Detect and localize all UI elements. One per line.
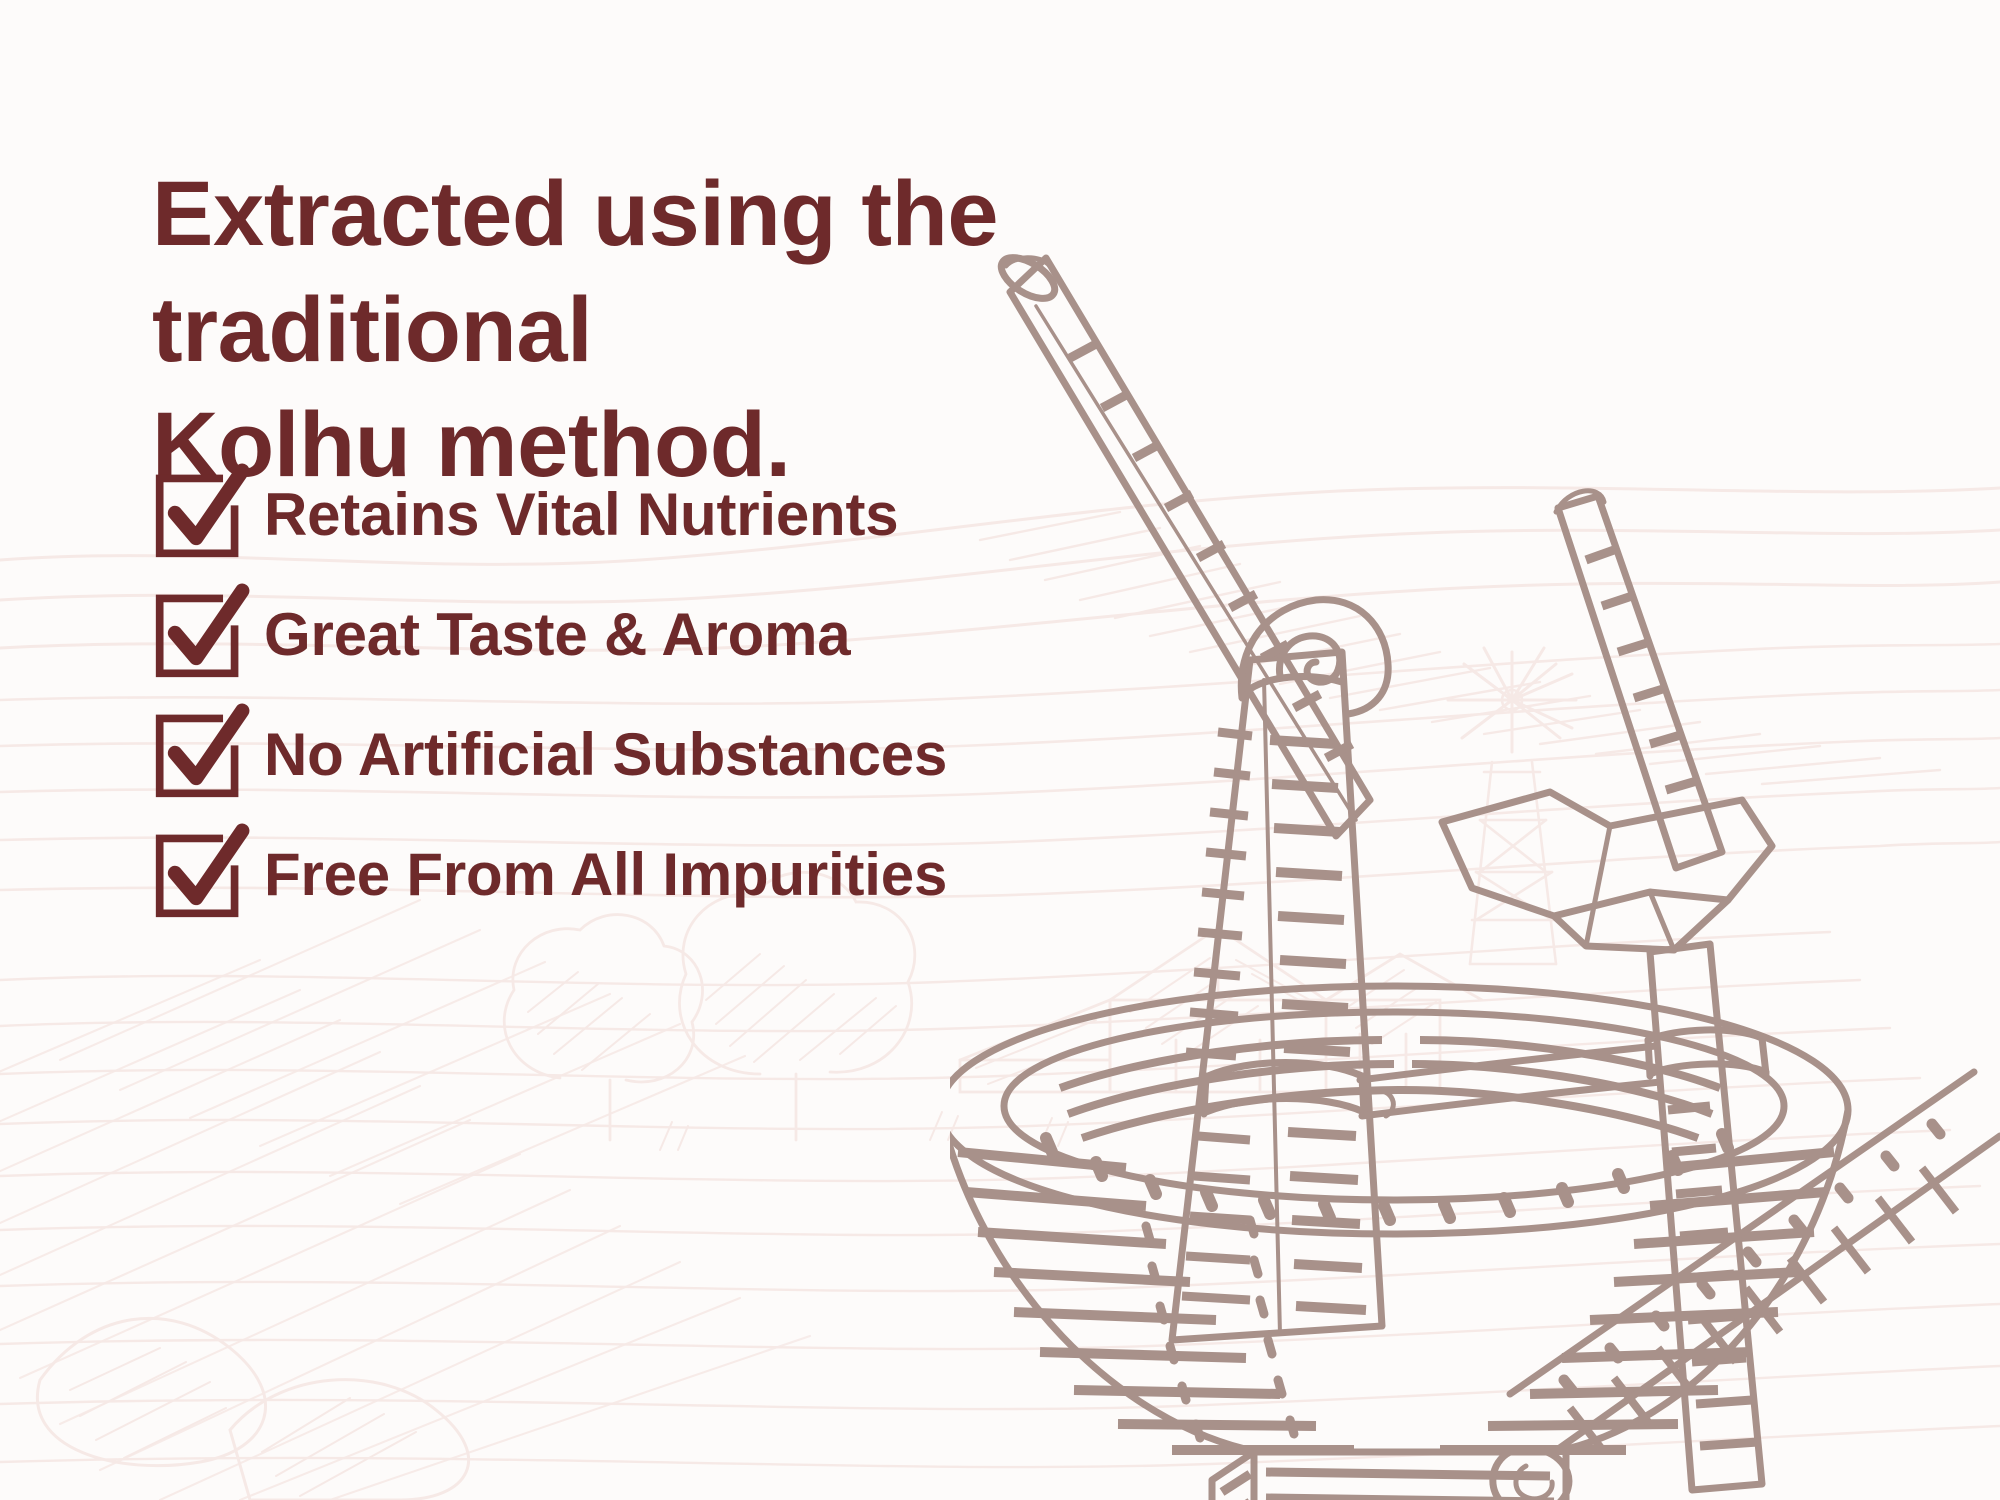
poster-canvas: Extracted using the traditional Kolhu me…: [0, 0, 2000, 1500]
checkbox-checked-icon: [152, 465, 248, 561]
list-item-label: Great Taste & Aroma: [264, 605, 850, 665]
page-title: Extracted using the traditional Kolhu me…: [152, 157, 1322, 505]
checkbox-checked-icon: [152, 705, 248, 801]
list-item-label: No Artificial Substances: [264, 725, 947, 785]
list-item: No Artificial Substances: [152, 695, 1302, 815]
list-item: Free From All Impurities: [152, 815, 1302, 935]
checkbox-checked-icon: [152, 825, 248, 921]
checkbox-checked-icon: [152, 585, 248, 681]
feature-list: Retains Vital Nutrients Great Taste & Ar…: [152, 455, 1302, 935]
list-item-label: Retains Vital Nutrients: [264, 485, 898, 545]
list-item-label: Free From All Impurities: [264, 845, 947, 905]
list-item: Great Taste & Aroma: [152, 575, 1302, 695]
list-item: Retains Vital Nutrients: [152, 455, 1302, 575]
content-column: Extracted using the traditional Kolhu me…: [0, 0, 1320, 1500]
